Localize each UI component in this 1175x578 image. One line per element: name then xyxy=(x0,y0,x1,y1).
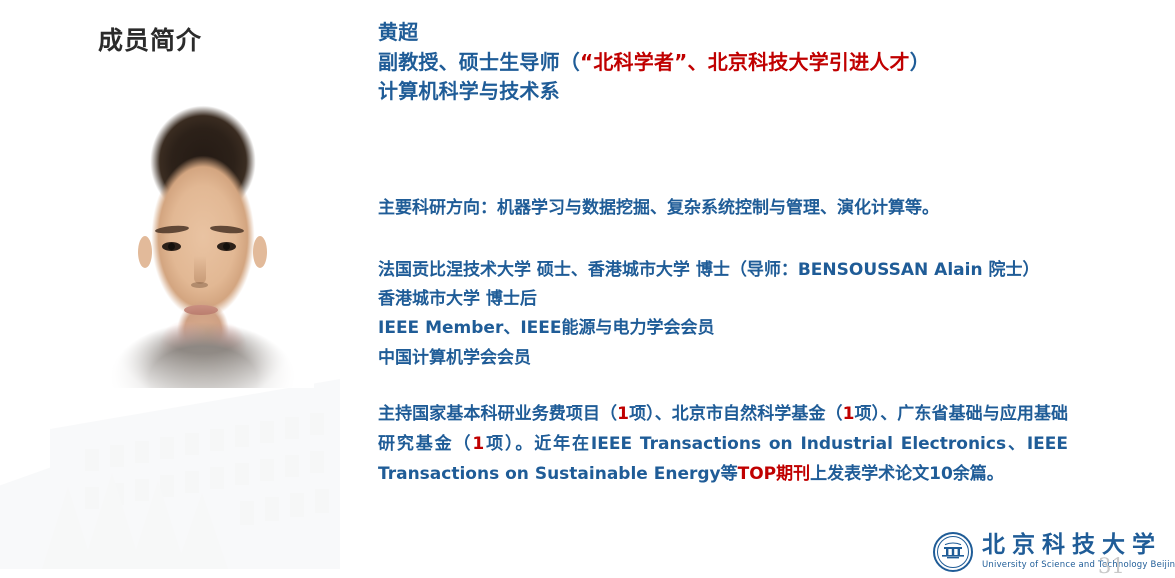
project-segment-5: 1 xyxy=(472,434,484,454)
member-portrait-photo xyxy=(92,86,314,388)
education-line: 法国贡比涅技术大学 硕士、香港城市大学 博士（导师：BENSOUSSAN Ala… xyxy=(378,256,1168,285)
university-logo-text: 北京科技大学 University of Science and Technol… xyxy=(982,534,1175,570)
project-segment-7: TOP期刊 xyxy=(738,464,811,484)
project-segment-0: 主持国家基本科研业务费项目（ xyxy=(378,404,617,424)
portrait-mouth xyxy=(184,305,218,315)
portrait-pupil-left xyxy=(168,243,175,250)
member-department: 计算机科学与技术系 xyxy=(378,77,1078,107)
member-title-suffix: ） xyxy=(910,50,930,74)
member-name: 黄超 xyxy=(378,18,1078,48)
portrait-pupil-right xyxy=(223,243,230,250)
project-segment-1: 1 xyxy=(617,404,629,424)
project-segment-2: 项）、北京市自然科学基金（ xyxy=(629,404,843,424)
portrait-eyebrow-right xyxy=(210,225,244,235)
university-seal-icon xyxy=(932,531,974,573)
education-line: 中国计算机学会会员 xyxy=(378,344,1168,373)
slide-canvas: 成员简介 黄超 副教授、硕士生导师（“北科学者”、北京科技大学引进人才） 计算机… xyxy=(0,0,1175,578)
education-line: 香港城市大学 博士后 xyxy=(378,285,1168,314)
project-segment-8: 上发表学术论文10余篇。 xyxy=(810,464,1004,484)
portrait-ear-left xyxy=(138,236,152,268)
education-and-memberships: 法国贡比涅技术大学 硕士、香港城市大学 博士（导师：BENSOUSSAN Ala… xyxy=(378,256,1168,373)
portrait-ear-right xyxy=(253,236,267,268)
member-title-line: 副教授、硕士生导师（“北科学者”、北京科技大学引进人才） xyxy=(378,48,1078,78)
university-name-en: University of Science and Technology Bei… xyxy=(982,561,1175,570)
member-header-block: 黄超 副教授、硕士生导师（“北科学者”、北京科技大学引进人才） 计算机科学与技术… xyxy=(378,18,1078,107)
portrait-nose xyxy=(194,256,206,284)
university-logo: 北京科技大学 University of Science and Technol… xyxy=(932,530,1170,574)
member-title-prefix: 副教授、硕士生导师（ xyxy=(378,50,580,74)
portrait-eyebrow-left xyxy=(155,225,189,235)
portrait-eye-right xyxy=(217,242,236,251)
portrait-eye-left xyxy=(162,242,181,251)
education-line: IEEE Member、IEEE能源与电力学会会员 xyxy=(378,314,1168,343)
campus-building-watermark xyxy=(0,369,340,578)
university-name-cn: 北京科技大学 xyxy=(982,534,1175,557)
project-segment-3: 1 xyxy=(843,404,855,424)
page-number: 31 xyxy=(1098,556,1125,577)
projects-and-publications: 主持国家基本科研业务费项目（1项）、北京市自然科学基金（1项）、广东省基础与应用… xyxy=(378,400,1068,489)
portrait-nostril xyxy=(191,282,208,288)
portrait-image xyxy=(92,86,314,388)
member-title-highlight: “北科学者”、北京科技大学引进人才 xyxy=(580,50,910,74)
research-directions: 主要科研方向：机器学习与数据挖掘、复杂系统控制与管理、演化计算等。 xyxy=(378,196,1138,222)
page-title: 成员简介 xyxy=(98,26,202,56)
